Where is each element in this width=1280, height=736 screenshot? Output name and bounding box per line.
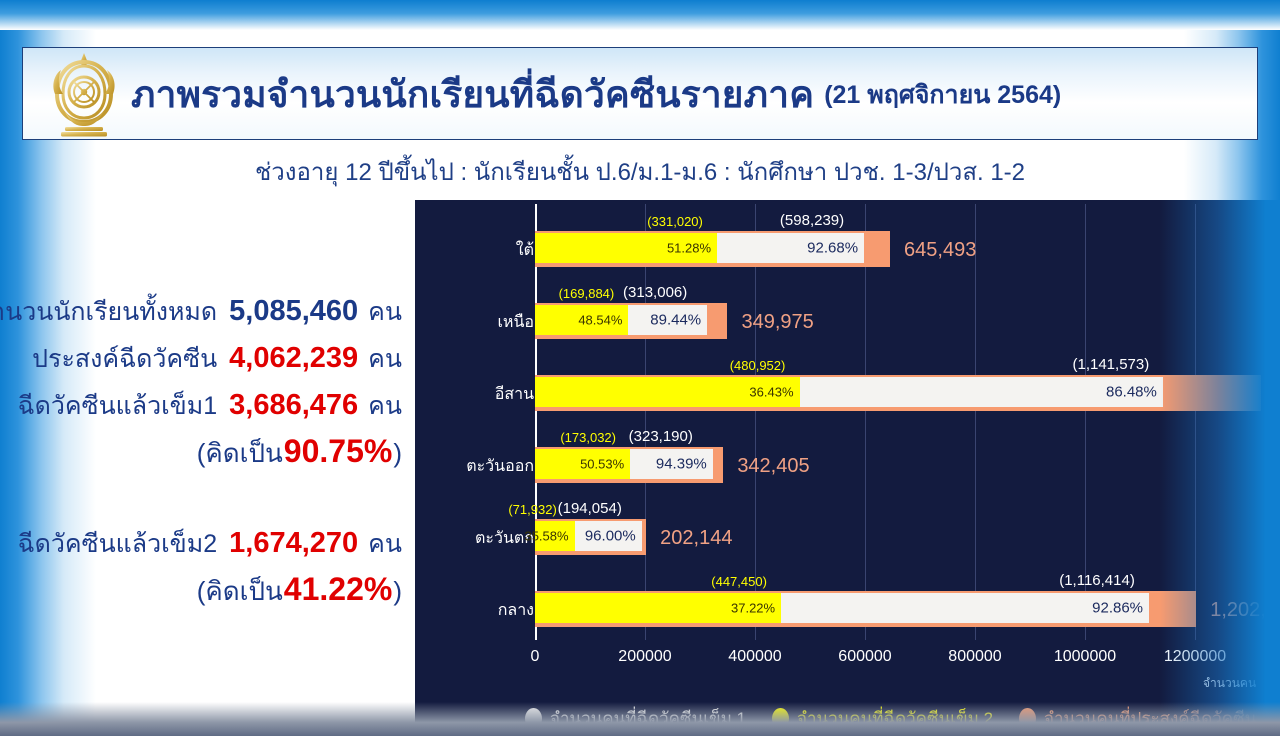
chart-row: ตะวันตก96.00%35.58%(194,054)(71,932)202,…: [415, 500, 1280, 572]
summary-unit: คน: [368, 292, 402, 332]
header-banner: ภาพรวมจำนวนนักเรียนที่ฉีดวัคซีนรายภาค (2…: [22, 47, 1258, 140]
chart-row: อีสาน86.48%36.43%(1,141,573)(480,952)1,3…: [415, 356, 1280, 428]
summary-value: 5,085,460: [229, 295, 358, 328]
percent-value: 41.22%: [284, 571, 393, 608]
bar-dose-2: 48.54%: [535, 305, 628, 335]
summary-spacer: [0, 474, 410, 524]
label-dose-1-count: (598,239): [780, 212, 844, 229]
bar-dose-2: 50.53%: [535, 449, 630, 479]
label-wish-count: 349,975: [741, 311, 813, 334]
legend-item[interactable]: จำนวนคนที่ฉีดวัคซีนเข็ม 2: [772, 705, 993, 732]
legend-label: จำนวนคนที่ประสงค์ฉีดวัคซีน: [1044, 705, 1256, 732]
page-subtitle: ช่วงอายุ 12 ปีขึ้นไป : นักเรียนชั้น ป.6/…: [0, 152, 1280, 191]
chart-category-label: เหนือ: [497, 310, 534, 335]
summary-unit: คน: [368, 524, 402, 564]
legend-label: จำนวนคนที่ฉีดวัคซีนเข็ม 1: [550, 705, 746, 732]
chart-row: ใต้92.68%51.28%(598,239)(331,020)645,493: [415, 212, 1280, 284]
page-title: ภาพรวมจำนวนนักเรียนที่ฉีดวัคซีนรายภาค: [131, 76, 814, 113]
x-axis-tick-label: 800000: [948, 648, 1001, 666]
summary-label: ฉีดวัคซีนแล้วเข็ม2: [18, 524, 218, 564]
bar-dose-2-percent: 51.28%: [667, 241, 711, 256]
percent-prefix: (คิดเป็น: [197, 433, 283, 474]
thai-ministry-emblem-icon: [41, 50, 127, 138]
chart-row: กลาง92.86%37.22%(1,116,414)(447,450)1,20…: [415, 572, 1280, 644]
bar-dose-1-percent: 89.44%: [650, 312, 701, 329]
x-axis-title: จำนวนคน: [1203, 674, 1256, 693]
summary-unit: คน: [368, 386, 402, 426]
legend-item[interactable]: จำนวนคนที่ประสงค์ฉีดวัคซีน: [1019, 705, 1256, 732]
summary-unit: คน: [368, 339, 402, 379]
label-wish-count: 1,202,192: [1210, 599, 1280, 622]
chart-row: เหนือ89.44%48.54%(313,006)(169,884)349,9…: [415, 284, 1280, 356]
x-axis-tick-label: 200000: [618, 648, 671, 666]
percent-prefix: (คิดเป็น: [197, 571, 283, 612]
label-dose-1-count: (313,006): [623, 284, 687, 301]
bar-dose-1-percent: 92.86%: [1092, 600, 1143, 617]
chart-category-label: ใต้: [516, 238, 534, 263]
legend-item[interactable]: จำนวนคนที่ฉีดวัคซีนเข็ม 1: [525, 705, 746, 732]
summary-panel: จำนวนนักเรียนทั้งหมด 5,085,460 คน ประสงค…: [0, 292, 410, 612]
bar-dose-2: 35.58%: [535, 521, 575, 551]
x-axis-tick-label: 1000000: [1054, 648, 1116, 666]
chart-x-axis: 020000040000060000080000010000001200000: [415, 642, 1280, 670]
percent-value: 90.75%: [284, 433, 393, 470]
x-axis-tick-label: 400000: [728, 648, 781, 666]
label-dose-1-count: (1,141,573): [1072, 356, 1149, 373]
report-date: (21 พฤศจิกายน 2564): [824, 75, 1061, 115]
bar-dose-2-percent: 37.22%: [731, 601, 775, 616]
summary-label: จำนวนนักเรียนทั้งหมด: [0, 292, 217, 332]
bar-dose-1-percent: 96.00%: [585, 528, 636, 545]
legend-marker-icon: [772, 708, 789, 729]
page-top-gradient: [0, 0, 1280, 30]
label-wish-count: 645,493: [904, 239, 976, 262]
bar-dose-2: 37.22%: [535, 593, 781, 623]
summary-label: ฉีดวัคซีนแล้วเข็ม1: [18, 386, 218, 426]
x-axis-tick-label: 1200000: [1164, 648, 1226, 666]
vaccination-bar-chart: ใต้92.68%51.28%(598,239)(331,020)645,493…: [415, 200, 1280, 736]
bar-dose-2: 36.43%: [535, 377, 800, 407]
label-dose-2-count: (331,020): [647, 214, 703, 229]
summary-dose2-percent: (คิดเป็น 41.22% ): [0, 571, 410, 612]
summary-dose1-percent: (คิดเป็น 90.75% ): [0, 433, 410, 474]
label-dose-2-count: (480,952): [730, 358, 786, 373]
bar-dose-1-percent: 86.48%: [1106, 384, 1157, 401]
percent-suffix: ): [393, 576, 402, 607]
bar-dose-2-percent: 36.43%: [749, 385, 793, 400]
summary-value: 4,062,239: [229, 342, 358, 375]
chart-category-label: กลาง: [498, 598, 534, 623]
label-dose-2-count: (173,032): [560, 430, 616, 445]
summary-value: 3,686,476: [229, 389, 358, 422]
label-dose-1-count: (1,116,414): [1059, 572, 1135, 589]
label-wish-count: 202,144: [660, 527, 732, 550]
summary-label: ประสงค์ฉีดวัคซีน: [32, 339, 217, 379]
label-dose-1-count: (194,054): [558, 500, 622, 517]
bar-dose-2-percent: 35.58%: [524, 529, 568, 544]
summary-value: 1,674,270: [229, 527, 358, 560]
label-dose-2-count: (169,884): [559, 286, 615, 301]
percent-suffix: ): [393, 438, 402, 469]
label-dose-1-count: (323,190): [629, 428, 693, 445]
chart-plot-area: ใต้92.68%51.28%(598,239)(331,020)645,493…: [415, 200, 1280, 640]
legend-label: จำนวนคนที่ฉีดวัคซีนเข็ม 2: [797, 705, 993, 732]
x-axis-tick-label: 0: [531, 648, 540, 666]
bar-dose-2-percent: 48.54%: [578, 313, 622, 328]
bar-dose-1-percent: 94.39%: [656, 456, 707, 473]
bar-dose-2: 51.28%: [535, 233, 717, 263]
bar-dose-1-percent: 92.68%: [807, 240, 858, 257]
summary-row-total: จำนวนนักเรียนทั้งหมด 5,085,460 คน: [0, 292, 410, 332]
x-axis-tick-label: 600000: [838, 648, 891, 666]
summary-row-dose1: ฉีดวัคซีนแล้วเข็ม1 3,686,476 คน: [0, 386, 410, 426]
legend-marker-icon: [525, 708, 542, 729]
chart-category-label: อีสาน: [495, 382, 534, 407]
label-dose-2-count: (71,932): [508, 502, 556, 517]
chart-category-label: ตะวันออก: [466, 454, 534, 479]
summary-row-intent: ประสงค์ฉีดวัคซีน 4,062,239 คน: [0, 339, 410, 379]
label-wish-count: 342,405: [737, 455, 809, 478]
chart-legend: จำนวนคนที่ฉีดวัคซีนเข็ม 1จำนวนคนที่ฉีดวั…: [415, 700, 1280, 736]
bar-dose-2-percent: 50.53%: [580, 457, 624, 472]
legend-marker-icon: [1019, 708, 1036, 729]
chart-row: ตะวันออก94.39%50.53%(323,190)(173,032)34…: [415, 428, 1280, 500]
page-background: ภาพรวมจำนวนนักเรียนที่ฉีดวัคซีนรายภาค (2…: [0, 0, 1280, 736]
summary-row-dose2: ฉีดวัคซีนแล้วเข็ม2 1,674,270 คน: [0, 524, 410, 564]
header-title-row: ภาพรวมจำนวนนักเรียนที่ฉีดวัคซีนรายภาค (2…: [131, 48, 1249, 141]
label-dose-2-count: (447,450): [711, 574, 767, 589]
